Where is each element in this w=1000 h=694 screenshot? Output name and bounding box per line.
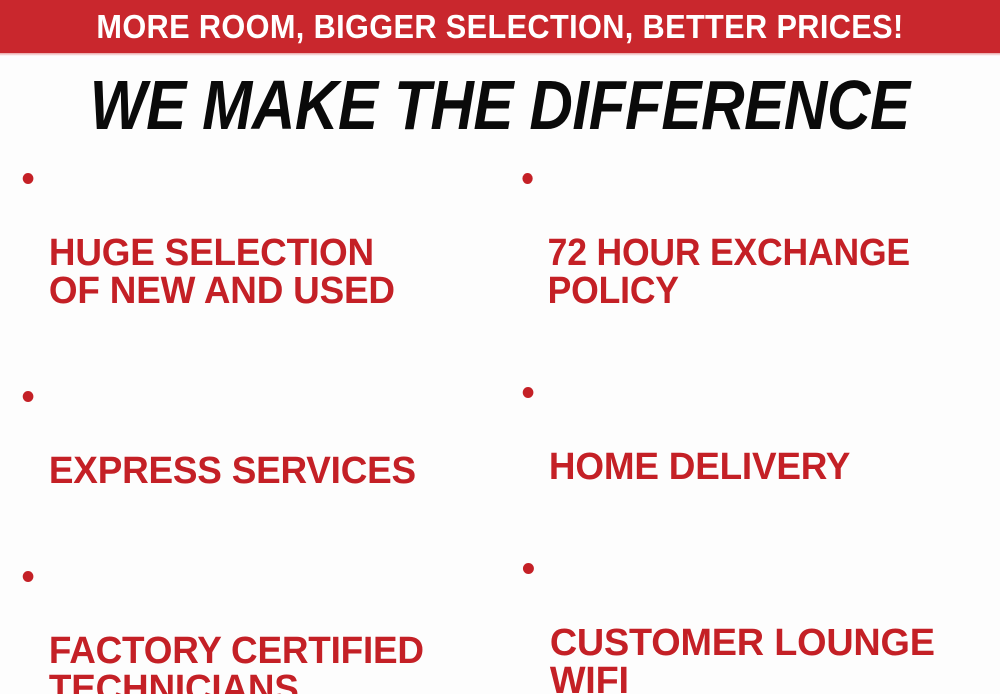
benefits-column-left: HUGE SELECTION OF NEW AND USED EXPRESS S… [14,158,500,694]
page-title: WE MAKE THE DIFFERENCE [90,70,910,140]
ribbon-bottom-edge [0,53,1000,56]
list-item-label: FACTORY CERTIFIED TECHNICIANS [49,632,486,694]
list-item-label: HUGE SELECTION OF NEW AND USED [49,234,486,310]
top-ribbon: MORE ROOM, BIGGER SELECTION, BETTER PRIC… [0,0,1000,53]
bullet-dot-icon [523,387,534,398]
benefits-column-right: 72 HOUR EXCHANGE POLICY HOME DELIVERY CU… [514,158,1000,694]
bullet-dot-icon [523,563,534,574]
bullet-dot-icon [23,173,34,184]
headline-container: WE MAKE THE DIFFERENCE [0,64,1000,146]
list-item: FACTORY CERTIFIED TECHNICIANS [14,556,485,694]
bullet-dot-icon [522,173,532,184]
bullet-dot-icon [23,391,34,402]
promotional-banner: MORE ROOM, BIGGER SELECTION, BETTER PRIC… [0,0,1000,694]
list-item: CUSTOMER LOUNGE WIFI [514,548,998,694]
list-item: HUGE SELECTION OF NEW AND USED [14,158,485,348]
list-item: 72 HOUR EXCHANGE POLICY [514,158,968,348]
benefits-columns: HUGE SELECTION OF NEW AND USED EXPRESS S… [0,158,1000,694]
list-item-label: EXPRESS SERVICES [49,452,486,490]
list-item-label: 72 HOUR EXCHANGE POLICY [548,234,969,310]
ribbon-headline-text: MORE ROOM, BIGGER SELECTION, BETTER PRIC… [96,10,903,43]
list-item-label: CUSTOMER LOUNGE WIFI [550,624,998,694]
list-item-label: HOME DELIVERY [549,448,986,486]
bullet-dot-icon [23,571,34,582]
list-item: HOME DELIVERY [514,372,985,524]
list-item: EXPRESS SERVICES [14,376,485,528]
